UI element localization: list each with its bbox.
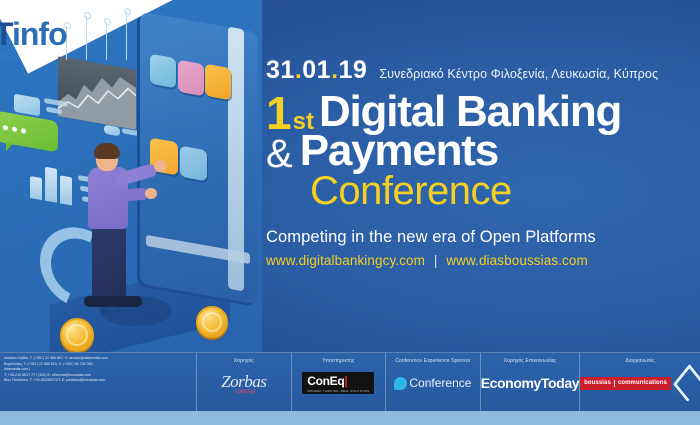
brand-logo-wordmark: Tinfo: [0, 18, 67, 50]
coin-icon: [60, 318, 94, 352]
bar-chart-icon: [30, 164, 75, 206]
coneq-accent-mark: |: [344, 374, 347, 388]
ui-card-shape: [104, 125, 120, 137]
sponsor-caption: Υποστηρικτής: [322, 358, 354, 364]
chat-bubble-icon: [0, 111, 58, 153]
coneq-logo: ConEq|MODERN THINKING, REAL SOLUTIONS: [302, 368, 374, 398]
person-hand: [145, 188, 157, 199]
sponsor-zorbas[interactable]: Χορηγός Zorbascatering: [196, 353, 291, 412]
sponsor-coneq[interactable]: Υποστηρικτής ConEq|MODERN THINKING, REAL…: [291, 353, 386, 412]
bottom-strip: [0, 411, 700, 425]
event-tagline: Competing in the new era of Open Platfor…: [266, 228, 692, 247]
sponsor-strip: Χορηγός Zorbascatering Υποστηρικτής ConE…: [196, 353, 700, 412]
url-separator: |: [434, 253, 438, 268]
line-chart-card-icon: [58, 56, 136, 130]
sponsor-caption: Conference Experience Sponsor: [395, 358, 470, 364]
divider-icon: [614, 380, 615, 387]
organiser-boussias[interactable]: Διοργανωτές boussiascommunications: [579, 353, 700, 412]
person-hand: [154, 160, 167, 172]
person-hair: [94, 143, 120, 159]
date-venue-row: 31.01.19 Συνεδριακό Κέντρο Φιλοξενία, Λε…: [266, 56, 692, 85]
brand-logo-name: info: [12, 16, 67, 52]
ui-card-shape: [14, 94, 40, 117]
brand-logo[interactable]: Tinfo όζει: [0, 18, 67, 62]
sponsor-caption: Διοργανωτές: [625, 358, 655, 364]
contact-block: Νατάσα Λάβδα, T: (+357) 22 580 807, E: l…: [4, 356, 194, 384]
sponsor-name: boussias: [584, 380, 611, 386]
sponsor-cy-conference[interactable]: Conference Experience Sponsor Conference: [385, 353, 480, 412]
title-line-two: & Payments: [266, 130, 692, 172]
person-shoe: [110, 296, 142, 307]
brand-logo-tagline: όζει: [0, 52, 67, 62]
title-conference: Conference: [310, 170, 692, 212]
app-tile: [180, 146, 207, 182]
contact-line: Βίκυ Παυλάτου, T: +30-6943627371 E: pavl…: [4, 378, 194, 384]
person-arm: [114, 188, 149, 202]
url-secondary[interactable]: www.diasboussias.com: [446, 253, 588, 268]
app-tile: [178, 60, 204, 97]
dias-chevron-icon: [673, 364, 700, 402]
ordinal-number: 1: [266, 94, 292, 133]
zorbas-logo: Zorbascatering: [221, 368, 266, 398]
person-legs: [92, 226, 126, 300]
footer-bar: Νατάσα Λάβδα, T: (+357) 22 580 807, E: l…: [0, 352, 700, 412]
boussias-logo: boussiascommunications: [580, 368, 700, 398]
chart-pin-icon: [86, 16, 87, 60]
coin-icon: [196, 306, 228, 338]
sponsor-subname: communications: [618, 380, 667, 386]
title-ampersand: &: [266, 136, 293, 172]
sponsor-name: Conference: [409, 376, 471, 390]
event-urls: www.digitalbankingcy.com | www.diasbouss…: [266, 253, 692, 268]
sponsor-caption: Χορηγός Επικοινωνίας: [504, 358, 556, 364]
cy-conference-logo: Conference: [394, 368, 471, 398]
sponsor-caption: Χορηγός: [234, 358, 254, 364]
app-tile: [150, 54, 176, 89]
event-content: 31.01.19 Συνεδριακό Κέντρο Φιλοξενία, Λε…: [266, 56, 692, 268]
event-date: 31.01.19: [266, 56, 367, 85]
sponsor-economytoday[interactable]: Χορηγός Επικοινωνίας EconomyToday: [480, 353, 579, 412]
brand-logo-prefix: T: [0, 16, 12, 52]
event-title: 1st Digital Banking & Payments Conferenc…: [266, 91, 692, 212]
chart-pin-icon: [106, 22, 107, 60]
economytoday-logo: EconomyToday: [481, 368, 579, 398]
sponsor-name: ConEq: [307, 374, 344, 388]
conference-poster: Tinfo όζει 31.01.19 Συνεδριακό Κέντρο Φι…: [0, 0, 700, 425]
title-payments: Payments: [300, 130, 498, 172]
cy-conference-mark-icon: [394, 377, 407, 390]
sponsor-subname: MODERN THINKING, REAL SOLUTIONS: [307, 389, 369, 393]
url-primary[interactable]: www.digitalbankingcy.com: [266, 253, 425, 268]
chart-pin-icon: [126, 12, 127, 60]
app-tile: [205, 64, 231, 101]
sponsor-name: EconomyToday: [481, 375, 579, 391]
event-venue: Συνεδριακό Κέντρο Φιλοξενία, Λευκωσία, Κ…: [379, 67, 658, 81]
